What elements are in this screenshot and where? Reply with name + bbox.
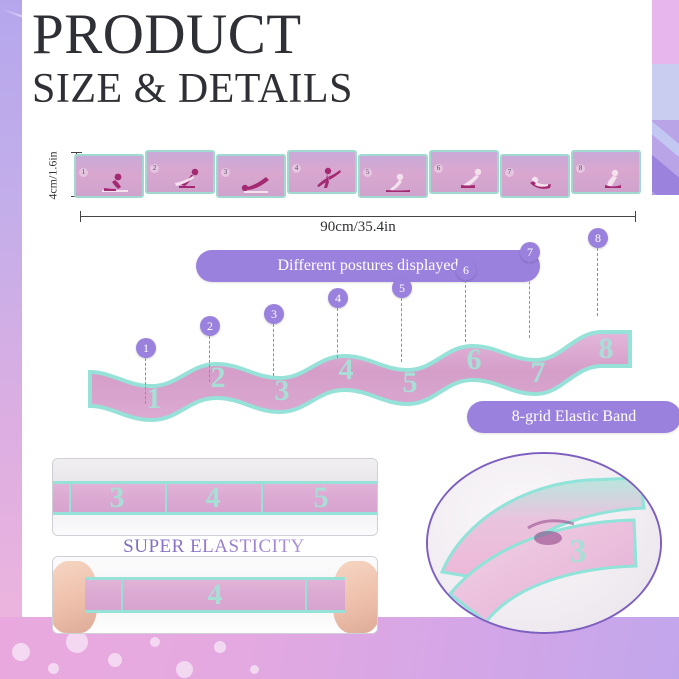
badge-8-grid-elastic-band: 8-grid Elastic Band xyxy=(467,401,679,433)
band-strap-stretched: 4 xyxy=(85,577,345,613)
band-top-diagram: 1 2 3 xyxy=(74,148,639,204)
band-segment: 4 xyxy=(287,150,357,194)
decor-dot xyxy=(250,665,259,674)
band-segment: 1 xyxy=(74,154,144,198)
yoga-pose-icon xyxy=(165,165,207,191)
grid-number: 4 xyxy=(206,481,221,515)
callout-number: 7 xyxy=(520,242,540,262)
photo-flat-band: 3 4 5 xyxy=(52,458,378,536)
segment-number: 1 xyxy=(79,168,88,177)
page-subtitle: SIZE & DETAILS xyxy=(32,68,353,110)
segment-number: 7 xyxy=(505,168,514,177)
decor-dot xyxy=(108,653,122,667)
callout-number: 5 xyxy=(392,278,412,298)
decor-dot xyxy=(176,661,193,678)
yoga-pose-icon xyxy=(307,165,349,191)
loop-band-graphic: 3 xyxy=(428,454,660,632)
badge-different-postures: Different postures displayed xyxy=(196,250,540,282)
photo-closeup-loop: 3 xyxy=(426,452,662,634)
grid-number: 3 xyxy=(110,481,125,515)
length-dimension-label: 90cm/35.4in xyxy=(80,219,636,236)
segment-number: 8 xyxy=(576,164,585,173)
segment-number: 4 xyxy=(292,164,301,173)
svg-text:8: 8 xyxy=(599,332,614,365)
grid-number: 5 xyxy=(314,481,329,515)
svg-text:4: 4 xyxy=(339,353,354,386)
yoga-pose-icon xyxy=(449,165,491,191)
height-dimension: 4cm/1.6in xyxy=(40,140,58,230)
callout-number: 4 xyxy=(328,288,348,308)
length-dimension: 90cm/35.4in xyxy=(80,210,636,236)
callout-number: 6 xyxy=(456,260,476,280)
segment-number: 2 xyxy=(150,164,159,173)
yoga-pose-icon xyxy=(378,169,420,195)
decor-dot xyxy=(12,643,30,661)
height-dimension-label: 4cm/1.6in xyxy=(46,137,61,215)
page-title: PRODUCT xyxy=(32,6,302,63)
band-segment: 6 xyxy=(429,150,499,194)
yoga-pose-icon xyxy=(236,169,278,195)
segment-number: 6 xyxy=(434,164,443,173)
svg-text:2: 2 xyxy=(211,361,226,394)
band-segment: 5 xyxy=(358,154,428,198)
callout-number: 8 xyxy=(588,228,608,248)
yoga-pose-icon xyxy=(94,169,136,195)
decor-dot xyxy=(66,631,88,653)
svg-text:7: 7 xyxy=(531,356,546,389)
segment-number: 5 xyxy=(363,168,372,177)
decor-dot xyxy=(150,637,160,647)
svg-text:3: 3 xyxy=(275,374,290,407)
band-segment: 3 xyxy=(216,154,286,198)
yoga-pose-icon xyxy=(520,169,562,195)
band-segment: 8 xyxy=(571,150,641,194)
decor-dot xyxy=(214,641,226,653)
callout-number: 1 xyxy=(136,338,156,358)
band-segment: 7 xyxy=(500,154,570,198)
band-strap-flat: 3 4 5 xyxy=(53,481,377,515)
photo-stretched-band: 4 xyxy=(52,556,378,634)
yoga-pose-icon xyxy=(591,165,633,191)
callout-number: 3 xyxy=(264,304,284,324)
band-segment: 2 xyxy=(145,150,215,194)
caption-super-elasticity: SUPER ELASTICITY xyxy=(52,536,376,558)
grid-number: 4 xyxy=(208,578,223,612)
grid-number-closeup: 3 xyxy=(570,533,587,570)
content-card: PRODUCT SIZE & DETAILS 4cm/1.6in 1 2 xyxy=(22,0,652,617)
svg-text:5: 5 xyxy=(403,366,418,399)
segment-number: 3 xyxy=(221,168,230,177)
svg-text:1: 1 xyxy=(147,382,162,415)
left-gradient-border xyxy=(0,0,22,679)
decor-dot xyxy=(48,663,59,674)
callout-number: 2 xyxy=(200,316,220,336)
svg-text:6: 6 xyxy=(467,343,482,376)
product-infographic: PRODUCT SIZE & DETAILS 4cm/1.6in 1 2 xyxy=(0,0,679,679)
